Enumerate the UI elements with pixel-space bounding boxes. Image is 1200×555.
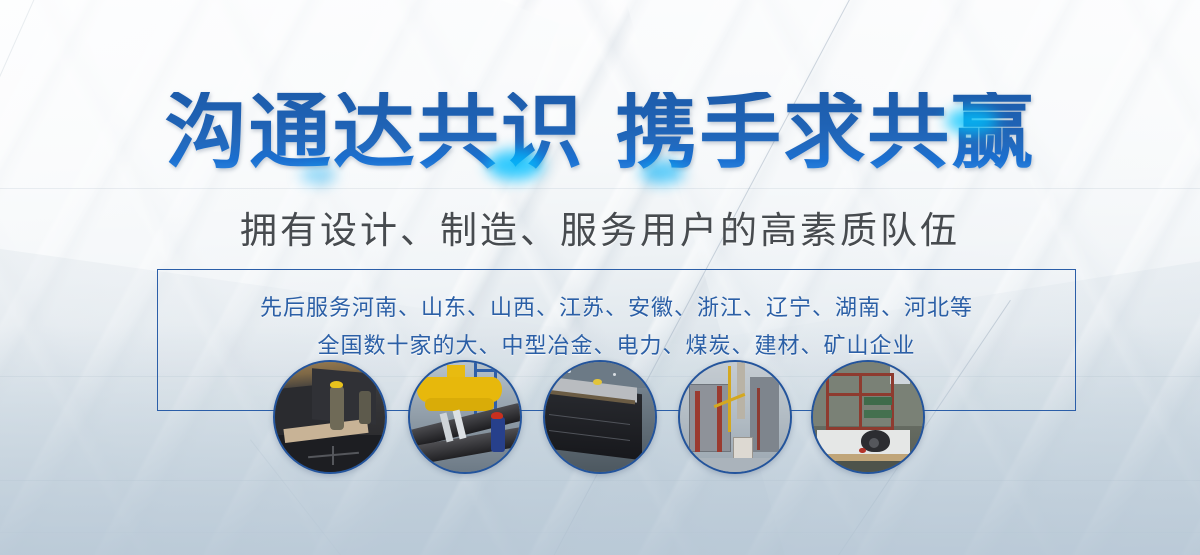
steel-tank-section-photo: [543, 360, 657, 474]
promo-banner: 沟通达共识 携手求共赢 拥有设计、制造、服务用户的高素质队伍 先后服务河南、山东…: [0, 0, 1200, 555]
yellow-plant-pipeline-photo: [408, 360, 522, 474]
plant-construction-photo: [678, 360, 792, 474]
project-photo-strip: [0, 0, 1200, 555]
steel-plate-welding-photo: [273, 360, 387, 474]
workshop-machine-part-photo: [811, 360, 925, 474]
